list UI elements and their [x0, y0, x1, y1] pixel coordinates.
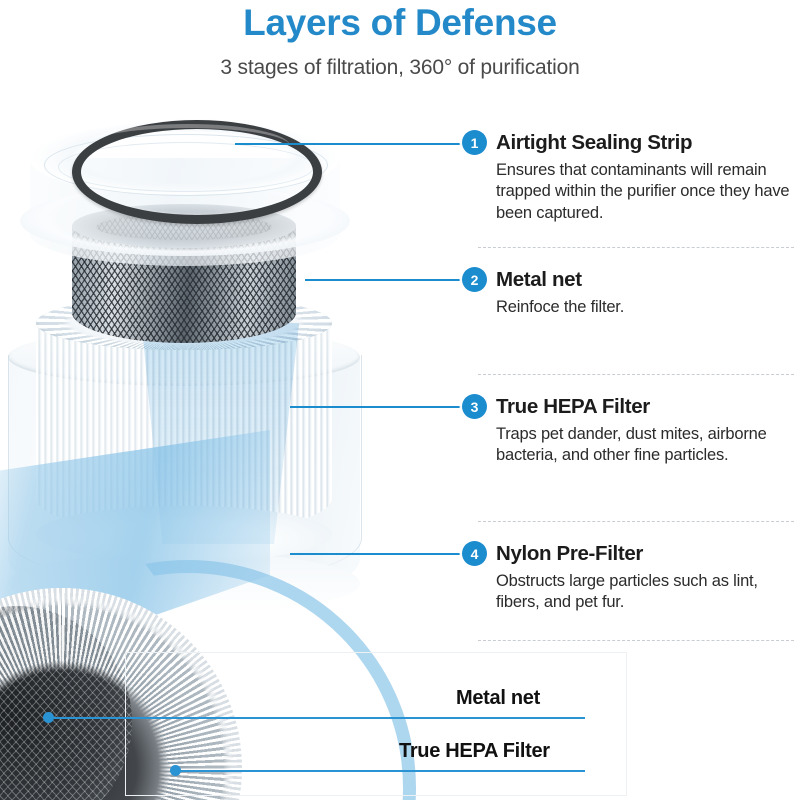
callout-2[interactable]: 2 Metal net Reinfoce the filter.: [462, 267, 800, 318]
callout-4-header: 4 Nylon Pre-Filter: [462, 541, 800, 566]
callout-2-description: Reinfoce the filter.: [496, 297, 800, 318]
callout-separator-1: [478, 247, 794, 248]
sealing-strip-highlight: [86, 124, 290, 168]
callout-4-description: Obstructs large particles such as lint, …: [496, 571, 800, 614]
detail-leader-metal-net: [48, 717, 585, 719]
callout-1-badge: 1: [462, 130, 487, 155]
callout-4-badge: 4: [462, 541, 487, 566]
callout-separator-3: [478, 521, 794, 522]
callout-1-header: 1 Airtight Sealing Strip: [462, 130, 800, 155]
callout-2-title: Metal net: [496, 268, 582, 292]
callout-3-badge: 3: [462, 394, 487, 419]
callout-3-header: 3 True HEPA Filter: [462, 394, 800, 419]
leader-line-3: [290, 406, 475, 408]
callout-1[interactable]: 1 Airtight Sealing Strip Ensures that co…: [462, 130, 800, 224]
detail-label-metal-net: Metal net: [456, 687, 540, 710]
page-subtitle: 3 stages of filtration, 360° of purifica…: [0, 56, 800, 80]
callout-separator-2: [478, 374, 794, 375]
leader-line-4: [290, 553, 475, 555]
callout-separator-4: [478, 640, 794, 641]
callout-4-title: Nylon Pre-Filter: [496, 542, 643, 566]
callout-1-description: Ensures that contaminants will remain tr…: [496, 160, 800, 224]
leader-line-1: [235, 143, 475, 145]
detail-leader-true-hepa: [175, 770, 585, 772]
callout-2-badge: 2: [462, 267, 487, 292]
callout-2-header: 2 Metal net: [462, 267, 800, 292]
page-title: Layers of Defense: [0, 2, 800, 44]
detail-panel: [125, 652, 627, 796]
callout-4[interactable]: 4 Nylon Pre-Filter Obstructs large parti…: [462, 541, 800, 614]
callout-3-title: True HEPA Filter: [496, 395, 650, 419]
callout-1-title: Airtight Sealing Strip: [496, 131, 692, 155]
callout-3[interactable]: 3 True HEPA Filter Traps pet dander, dus…: [462, 394, 800, 467]
leader-line-2: [305, 279, 475, 281]
detail-label-true-hepa: True HEPA Filter: [399, 740, 550, 763]
infographic-canvas: Layers of Defense 3 stages of filtration…: [0, 0, 800, 800]
callout-3-description: Traps pet dander, dust mites, airborne b…: [496, 424, 800, 467]
